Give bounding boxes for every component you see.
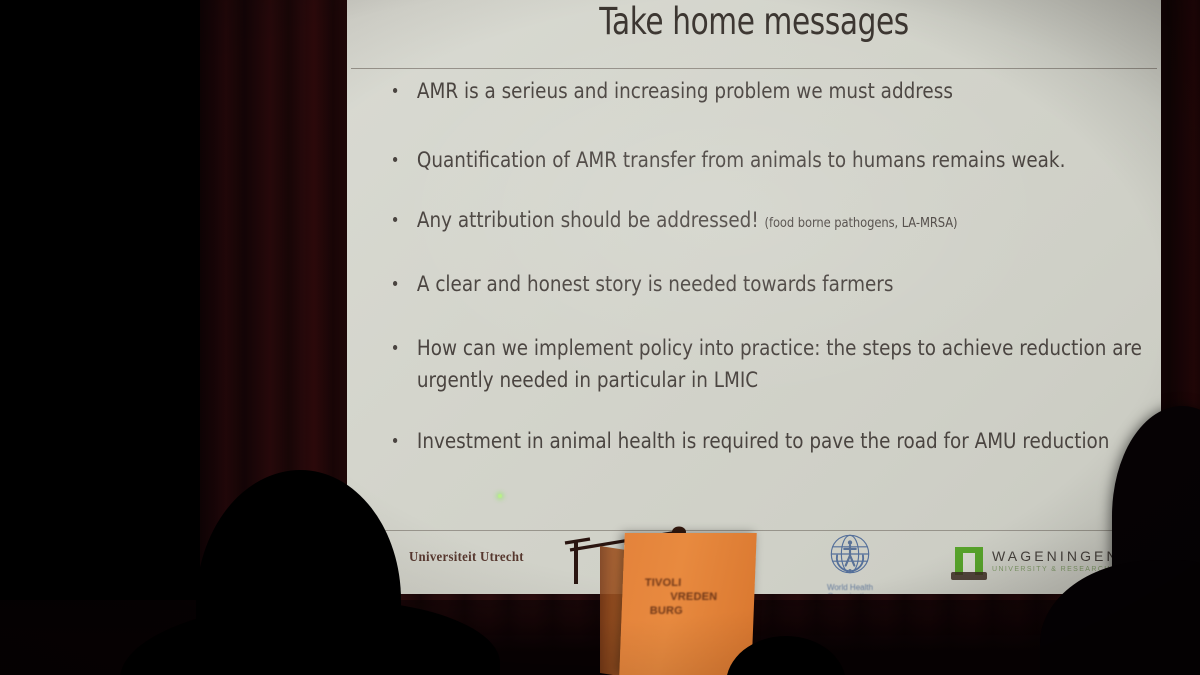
bullet-text: Quantification of AMR transfer from anim… (417, 148, 1066, 173)
universiteit-utrecht-logo: Universiteit Utrecht (409, 549, 524, 565)
footer-divider (351, 530, 1157, 531)
bullet-dot-icon (393, 345, 397, 350)
venue-logo-line-1: TIVOLI (645, 577, 742, 591)
who-line-1: World Health (802, 583, 898, 592)
who-emblem-icon (827, 531, 873, 577)
bullet-dot-icon (393, 281, 397, 286)
presentation-photo: Take home messages AMR is a serieus and … (0, 0, 1200, 675)
dark-room-left (0, 0, 212, 675)
bullet-item: Investment in animal health is required … (381, 426, 1161, 459)
tivoli-vredenburg-logo: TIVOLI VREDEN BURG (643, 577, 741, 618)
bullet-text: How can we implement policy into practic… (417, 336, 1142, 394)
bullet-item: Quantification of AMR transfer from anim… (381, 145, 1161, 178)
venue-logo-line-2: VREDEN (644, 591, 741, 605)
bullet-item: A clear and honest story is needed towar… (381, 269, 1161, 302)
slide-bullet-list: AMR is a serieus and increasing problem … (381, 76, 1147, 459)
title-divider (351, 68, 1157, 69)
bullet-item: How can we implement policy into practic… (381, 333, 1161, 398)
bullet-dot-icon (393, 88, 397, 93)
who-logo: World Health Organization (802, 531, 898, 594)
bullet-text: Any attribution should be addressed! (417, 208, 759, 233)
wageningen-mark-icon (955, 547, 983, 575)
laser-pointer-dot (498, 494, 502, 498)
bullet-text: AMR is a serieus and increasing problem … (417, 79, 953, 104)
who-logo-text: World Health Organization (802, 583, 898, 594)
bullet-note: (food borne pathogens, LA-MRSA) (765, 215, 958, 231)
who-line-2: Organization (802, 592, 898, 594)
wageningen-logo: WAGENINGEN UNIVERSITY & RESEARCH (955, 547, 1120, 575)
venue-logo-line-3: BURG (643, 605, 740, 619)
bullet-text: Investment in animal health is required … (417, 429, 1110, 454)
bullet-dot-icon (393, 157, 397, 162)
wageningen-name: WAGENINGEN (992, 549, 1120, 564)
bullet-item: Any attribution should be addressed! (fo… (381, 205, 1161, 238)
slide-title: Take home messages (428, 0, 1079, 43)
bullet-text: A clear and honest story is needed towar… (417, 272, 894, 297)
bullet-dot-icon (393, 438, 397, 443)
projected-slide: Take home messages AMR is a serieus and … (347, 0, 1161, 594)
speaker-podium: TIVOLI VREDEN BURG (619, 533, 756, 675)
bullet-dot-icon (393, 217, 397, 222)
bullet-item: AMR is a serieus and increasing problem … (381, 76, 1161, 109)
